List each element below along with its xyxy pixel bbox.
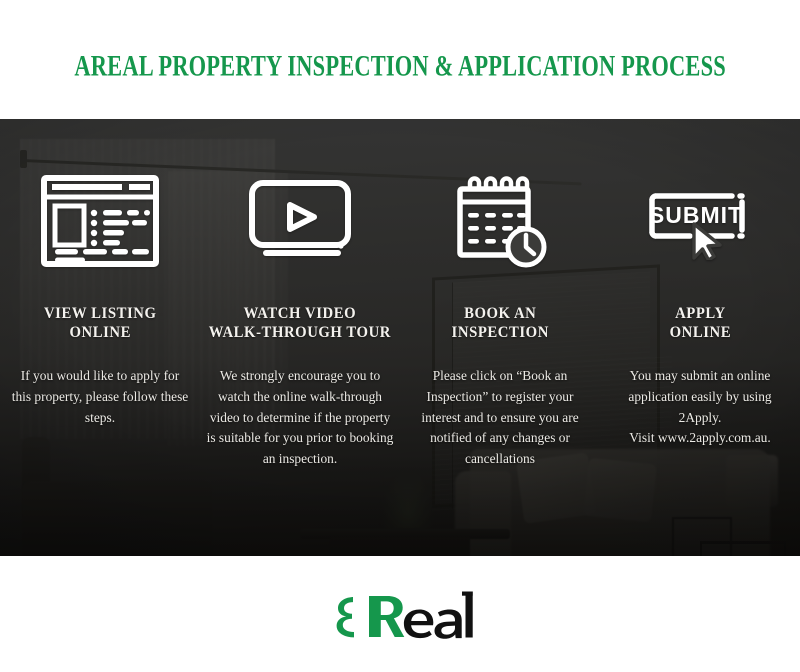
video-play-icon [200,119,400,304]
listing-window-icon [0,119,200,304]
step-body: We strongly encourage you to watch the o… [205,366,395,470]
step-column-view-listing: VIEW LISTING ONLINE If you would like to… [0,119,200,556]
step-heading: APPLY ONLINE [669,304,731,344]
step-column-apply-online: SUBMIT APPLY ONLINE You may submit an on… [600,119,800,556]
title-band: AREAL PROPERTY INSPECTION & APPLICATION … [0,0,800,119]
step-body: You may submit an online application eas… [606,366,794,449]
calendar-clock-icon [400,119,600,304]
step-column-watch-video: WATCH VIDEO WALK-THROUGH TOUR We strongl… [200,119,400,556]
step-heading: VIEW LISTING ONLINE [44,304,157,344]
steps-row: VIEW LISTING ONLINE If you would like to… [0,119,800,556]
step-body: Please click on “Book an Inspection” to … [407,366,593,470]
submit-button-cursor-icon: SUBMIT [600,119,800,304]
photo-band: VIEW LISTING ONLINE If you would like to… [0,119,800,556]
step-column-book-inspection: BOOK AN INSPECTION Please click on “Book… [400,119,600,556]
poster-page: AREAL PROPERTY INSPECTION & APPLICATION … [0,0,800,672]
footer-band [0,556,800,672]
step-heading: BOOK AN INSPECTION [451,304,548,344]
step-heading: WATCH VIDEO WALK-THROUGH TOUR [209,304,391,344]
areal-logo [324,583,476,645]
step-body: If you would like to apply for this prop… [10,366,190,428]
areal-logo-mark [324,583,476,645]
page-title: AREAL PROPERTY INSPECTION & APPLICATION … [74,48,725,83]
